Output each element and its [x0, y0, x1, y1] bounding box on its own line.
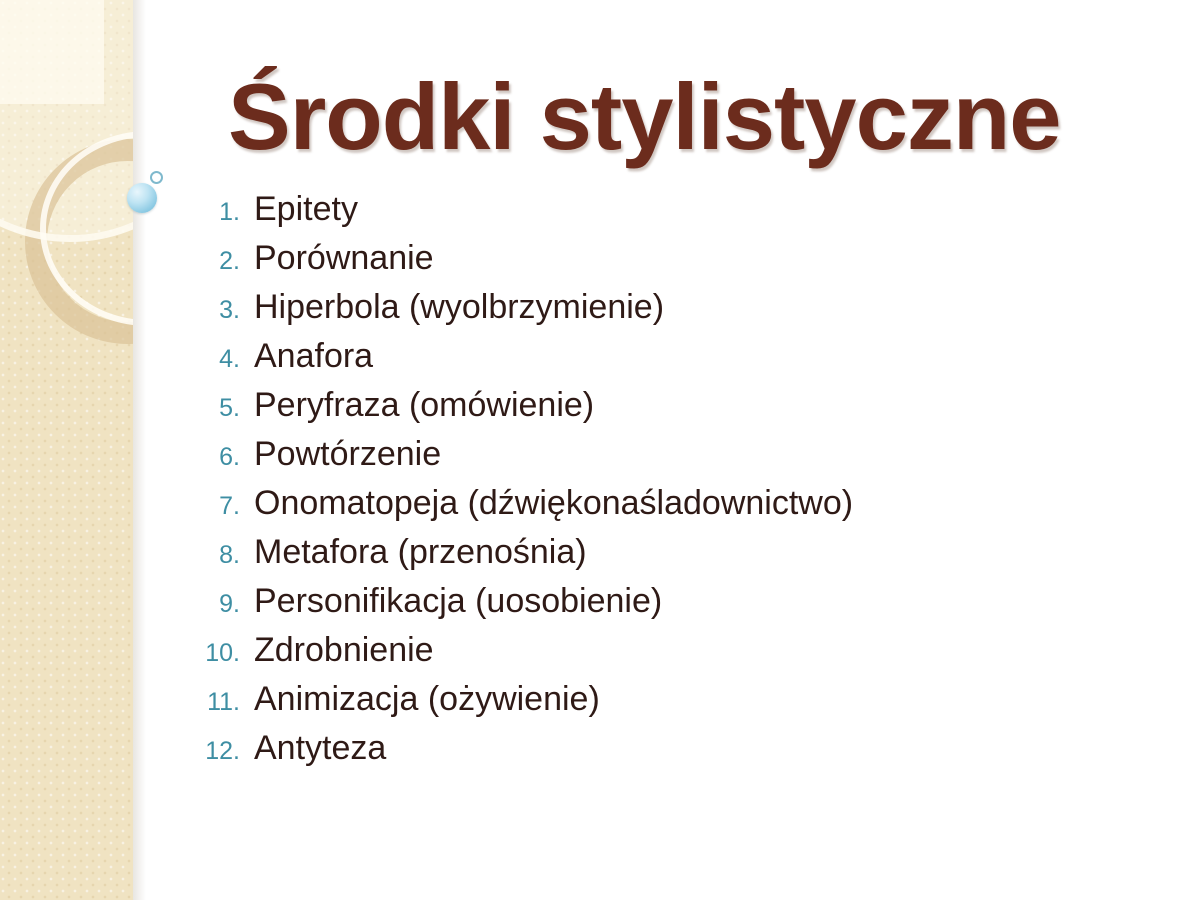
list-item-label: Antyteza: [254, 729, 386, 768]
list-item-number: 10.: [196, 639, 254, 668]
large-arc-decoration: [0, 0, 133, 242]
list-item-number: 12.: [196, 737, 254, 766]
page-title: Środki stylistyczne: [228, 68, 1158, 167]
list-item-number: 4.: [196, 345, 254, 374]
list-item-label: Metafora (przenośnia): [254, 533, 587, 572]
list-item: 2. Porównanie: [196, 239, 1176, 288]
list-item: 9. Personifikacja (uosobienie): [196, 582, 1176, 631]
list-item-number: 8.: [196, 541, 254, 570]
list-item-label: Epitety: [254, 190, 358, 229]
list-item-label: Porównanie: [254, 239, 434, 278]
list-item-number: 11.: [196, 688, 254, 717]
list-item: 7. Onomatopeja (dźwiękonaśladownictwo): [196, 484, 1176, 533]
list-item-label: Powtórzenie: [254, 435, 441, 474]
list-item-number: 2.: [196, 247, 254, 276]
list-item: 12. Antyteza: [196, 729, 1176, 778]
stylistic-devices-list: 1. Epitety 2. Porównanie 3. Hiperbola (w…: [196, 190, 1176, 778]
list-item-label: Personifikacja (uosobienie): [254, 582, 662, 621]
list-item-label: Onomatopeja (dźwiękonaśladownictwo): [254, 484, 853, 523]
list-item: 11. Animizacja (ożywienie): [196, 680, 1176, 729]
list-item-number: 6.: [196, 443, 254, 472]
list-item: 6. Powtórzenie: [196, 435, 1176, 484]
list-item-number: 5.: [196, 394, 254, 423]
list-item-label: Anafora: [254, 337, 373, 376]
list-item: 10. Zdrobnienie: [196, 631, 1176, 680]
sidebar-edge-shadow: [133, 0, 146, 900]
blue-bubble-icon: [127, 183, 157, 213]
list-item: 1. Epitety: [196, 190, 1176, 239]
list-item-label: Peryfraza (omówienie): [254, 386, 594, 425]
list-item-number: 3.: [196, 296, 254, 325]
list-item-label: Zdrobnienie: [254, 631, 434, 670]
decorative-sidebar: [0, 0, 133, 900]
list-item-label: Animizacja (ożywienie): [254, 680, 600, 719]
list-item: 4. Anafora: [196, 337, 1176, 386]
list-item-number: 1.: [196, 198, 254, 227]
list-item: 3. Hiperbola (wyolbrzymienie): [196, 288, 1176, 337]
list-item: 5. Peryfraza (omówienie): [196, 386, 1176, 435]
list-item-label: Hiperbola (wyolbrzymienie): [254, 288, 664, 327]
list-item-number: 9.: [196, 590, 254, 619]
list-item: 8. Metafora (przenośnia): [196, 533, 1176, 582]
small-circle-outline-icon: [150, 171, 163, 184]
slide-canvas: Środki stylistyczne 1. Epitety 2. Porówn…: [0, 0, 1200, 900]
list-item-number: 7.: [196, 492, 254, 521]
